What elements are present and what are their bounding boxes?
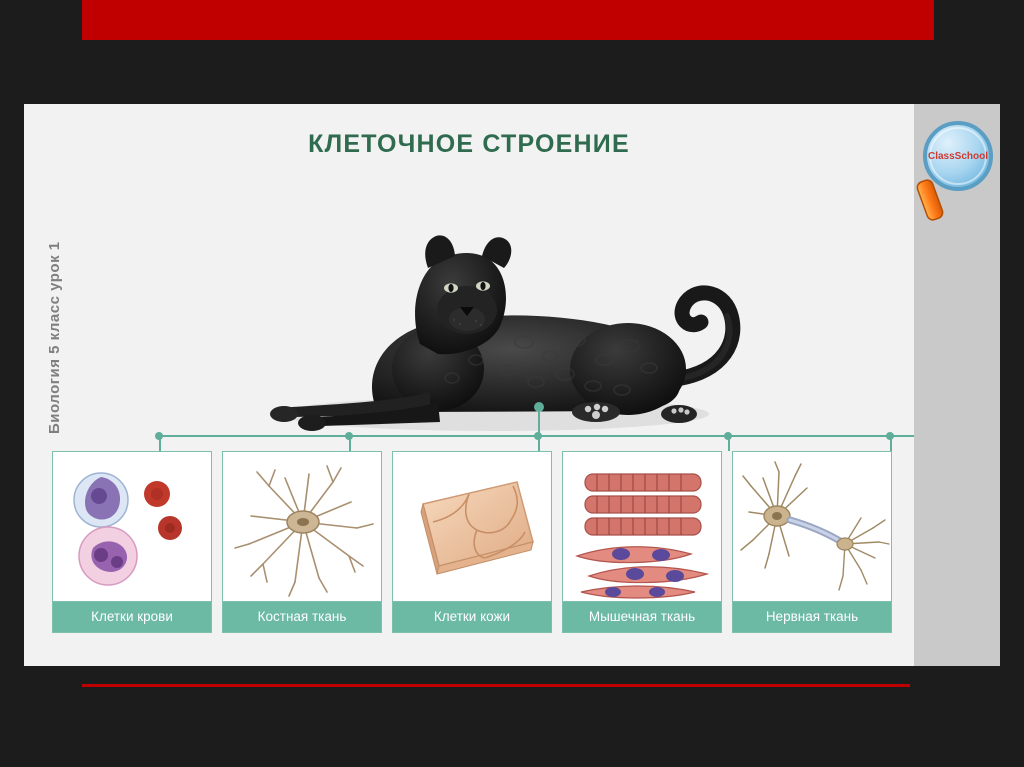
card-label: Костная ткань	[223, 601, 381, 632]
blood-cells-illustration	[53, 452, 211, 601]
card-label: Клетки крови	[53, 601, 211, 632]
nerve-tissue-illustration	[733, 452, 891, 601]
hero-image-panther	[224, 164, 744, 464]
card-muscle-tissue[interactable]: Мышечная ткань	[562, 451, 722, 633]
bottom-red-rule	[82, 684, 910, 687]
card-blood-cells[interactable]: Клетки крови	[52, 451, 212, 633]
connector-dot-2	[345, 432, 353, 440]
page-title: КЛЕТОЧНОЕ СТРОЕНИЕ	[24, 130, 914, 159]
card-skin-cells[interactable]: Клетки кожи	[392, 451, 552, 633]
connector-dot-3	[534, 432, 542, 440]
muscle-tissue-illustration	[563, 452, 721, 601]
connector-dot-5	[886, 432, 894, 440]
card-label: Мышечная ткань	[563, 601, 721, 632]
logo-text: ClassSchool	[928, 151, 988, 162]
slide-side-caption: Биология 5 класс урок 1	[46, 241, 63, 434]
magnifier-icon[interactable]: ClassSchool	[908, 118, 1004, 228]
connector-dot-4	[724, 432, 732, 440]
card-nerve-tissue[interactable]: Нервная ткань	[732, 451, 892, 633]
card-label: Клетки кожи	[393, 601, 551, 632]
slide: Биология 5 класс урок 1 КЛЕТОЧНОЕ СТРОЕН…	[24, 104, 1000, 666]
card-bone-tissue[interactable]: Костная ткань	[222, 451, 382, 633]
tissue-card-list: Клетки крови	[52, 451, 892, 636]
skin-cells-illustration	[393, 452, 551, 601]
card-label: Нервная ткань	[733, 601, 891, 632]
connector-dot-1	[155, 432, 163, 440]
bone-tissue-illustration	[223, 452, 381, 601]
connector-stem-dot	[534, 402, 544, 412]
slide-content-area: Биология 5 класс урок 1 КЛЕТОЧНОЕ СТРОЕН…	[24, 104, 914, 666]
top-red-bar	[82, 0, 934, 40]
